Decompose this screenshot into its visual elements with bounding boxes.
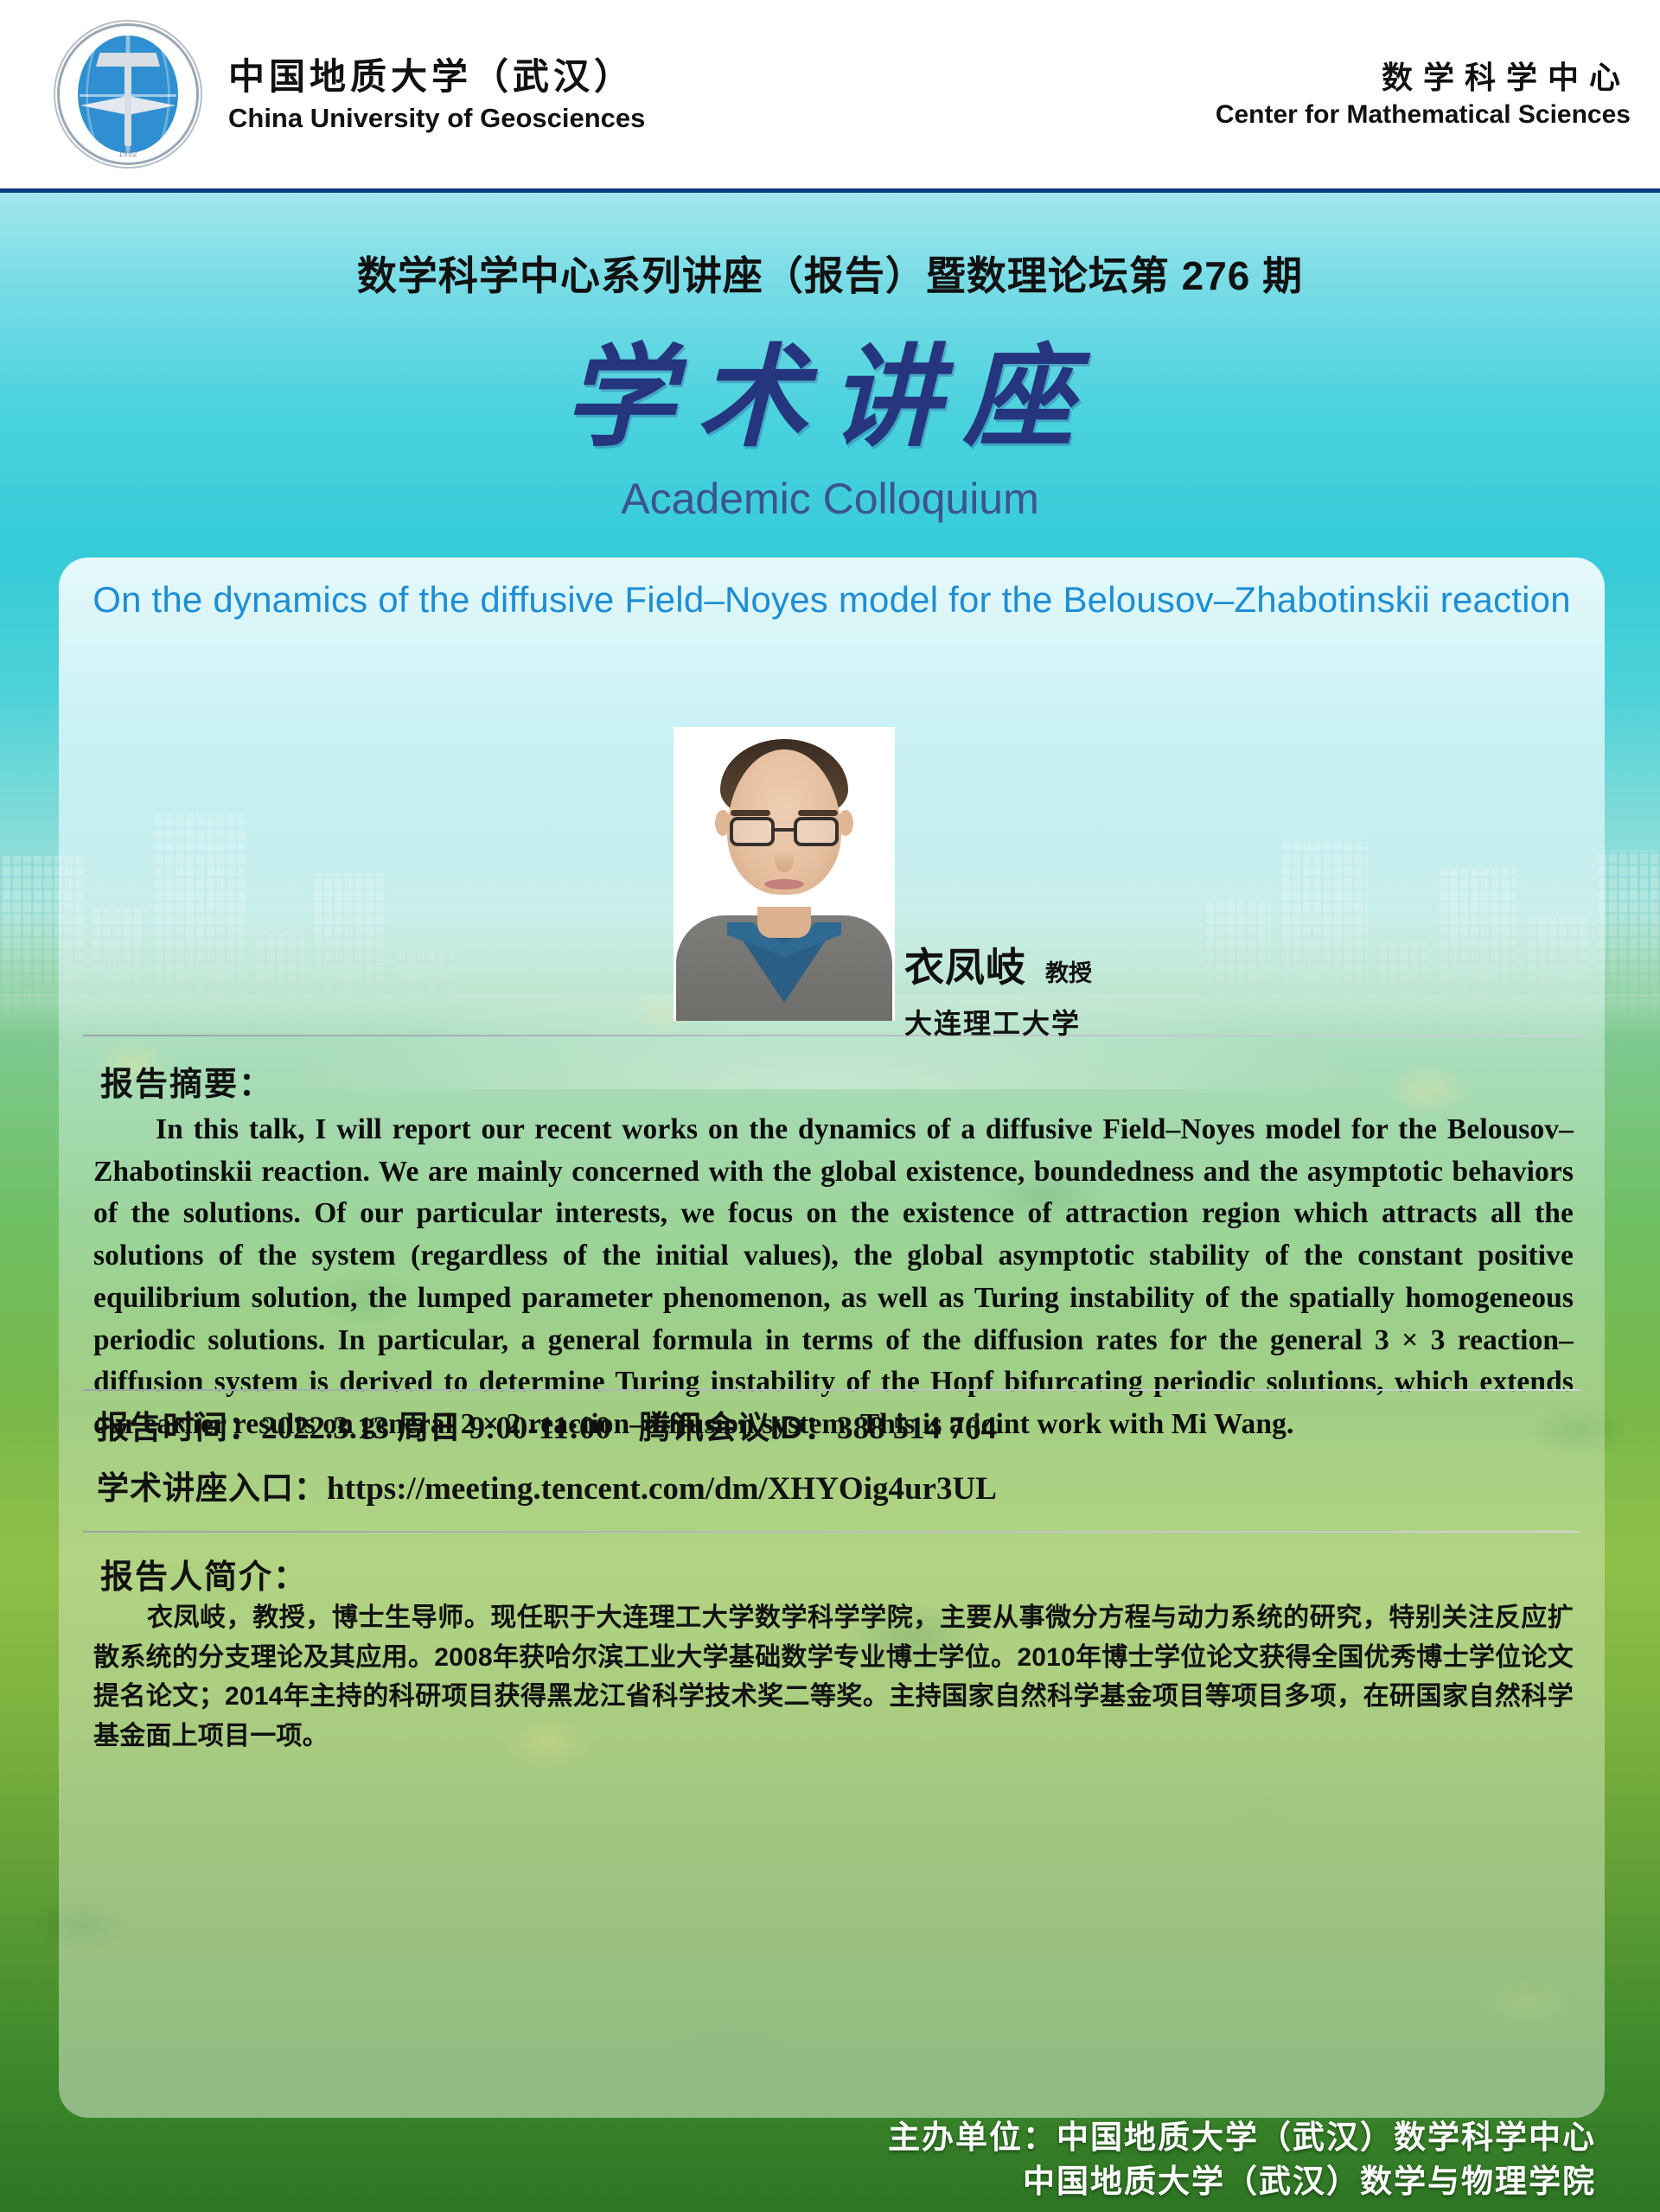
university-names: 中国地质大学（武汉） China University of Geoscienc… [228,54,645,134]
divider-abstract [83,1035,1580,1036]
talk-time-row: 报告时间：2022.3.13 周日 9:00-11:00腾讯会议ID：388 5… [97,1401,997,1448]
entry-link-label: 学术讲座入口： [97,1470,327,1506]
university-name-en: China University of Geosciences [228,102,645,134]
abstract-heading: 报告摘要： [100,1057,273,1105]
university-name-cn: 中国地质大学（武汉） [228,54,645,100]
cug-emblem-icon: 1952 [54,20,202,169]
poster-header: 1952 中国地质大学（武汉） China University of Geos… [0,0,1660,188]
speaker-role: 教授 [1045,954,1092,988]
speaker-info: 衣凤岐 教授 大连理工大学 [904,936,1092,1042]
bio-body: 衣凤岐，教授，博士生导师。现任职于大连理工大学数学科学学院，主要从事微分方程与动… [93,1598,1574,1756]
speaker-photo [674,727,895,1021]
speaker-affiliation: 大连理工大学 [904,1002,1092,1042]
talk-title: On the dynamics of the diffusive Field–N… [59,577,1605,623]
abstract-body: In this talk, I will report our recent w… [93,1109,1574,1446]
university-identity: 1952 中国地质大学（武汉） China University of Geos… [0,20,645,169]
talk-time-label: 报告时间： [97,1410,261,1445]
entry-link-url[interactable]: https://meeting.tencent.com/dm/XHYOig4ur… [327,1471,997,1507]
meeting-id-value: 388 514 764 [837,1411,997,1446]
calligraphy-title-cn: 学术讲座 [0,339,1660,458]
organizer-footer: 主办单位：中国地质大学（武汉）数学科学中心 中国地质大学（武汉）数学与物理学院 [0,2115,1660,2203]
talk-entry-row: 学术讲座入口：https://meeting.tencent.com/dm/XH… [97,1462,997,1508]
talk-time-value: 2022.3.13 周日 9:00-11:00 [261,1411,611,1446]
center-name-en: Center for Mathematical Sciences [1216,99,1631,131]
meeting-id-label: 腾讯会议ID： [639,1410,837,1445]
center-identity: 数学科学中心 Center for Mathematical Sciences [1216,58,1660,131]
header-divider-rule [0,188,1660,193]
speaker-name: 衣凤岐 [904,936,1026,993]
divider-bio [83,1531,1580,1533]
bio-heading: 报告人简介： [100,1550,308,1597]
organizer-line-1: 主办单位：中国地质大学（武汉）数学科学中心 [0,2115,1596,2159]
organizer-line-2: 中国地质大学（武汉）数学与物理学院 [0,2159,1596,2203]
divider-logistics [83,1389,1580,1391]
emblem-year: 1952 [118,150,137,158]
content-card: On the dynamics of the diffusive Field–N… [59,558,1605,2118]
series-title: 数学科学中心系列讲座（报告）暨数理论坛第 276 期 [0,245,1660,302]
calligraphy-title-en: Academic Colloquium [0,474,1660,524]
center-name-cn: 数学科学中心 [1216,58,1631,99]
